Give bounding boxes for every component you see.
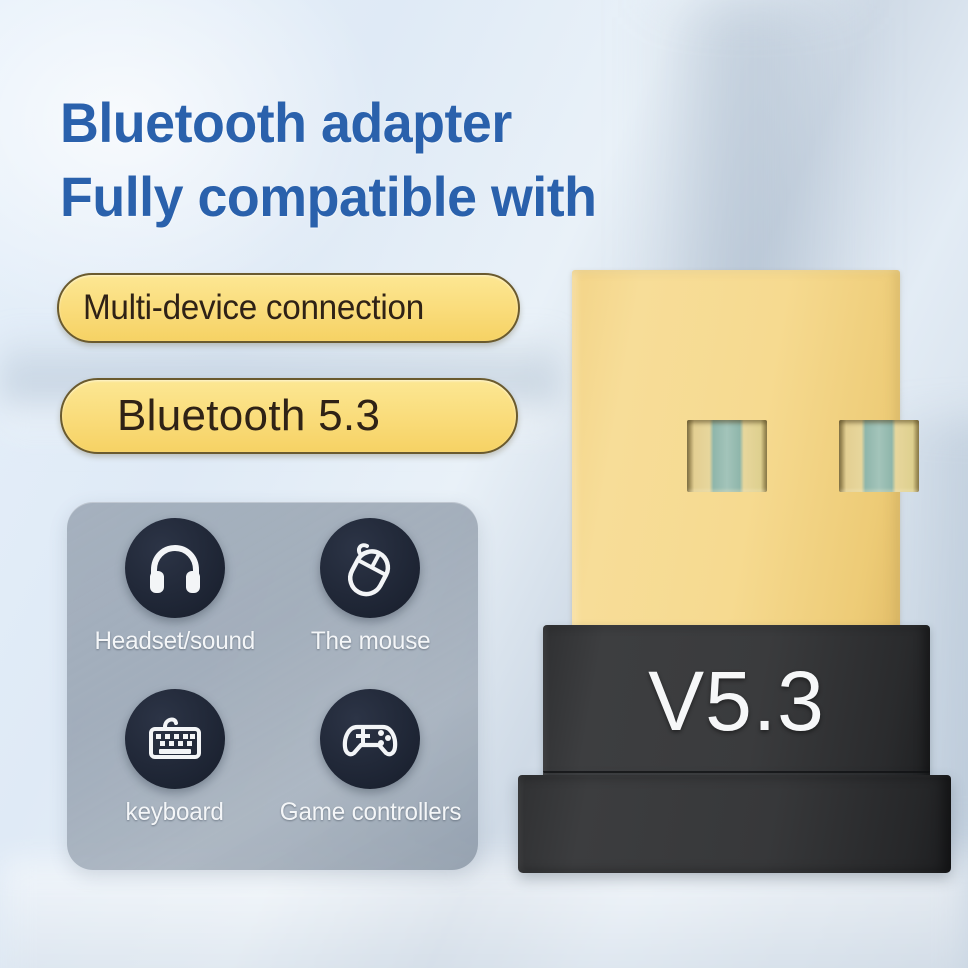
- badge-bluetooth-version: Bluetooth 5.3: [60, 378, 518, 454]
- product-image-usb-bluetooth-dongle: V5.3: [505, 255, 960, 880]
- product-banner: Bluetooth adapter Fully compatible with …: [0, 0, 968, 968]
- badge-label: Multi-device connection: [83, 288, 424, 328]
- feature-mouse: The mouse: [273, 518, 469, 687]
- feature-gamepad: Game controllers: [273, 687, 469, 856]
- badge-label: Bluetooth 5.3: [117, 391, 380, 441]
- dongle-body: V5.3: [543, 625, 930, 787]
- feature-label: Headset/sound: [94, 627, 255, 656]
- headphones-icon: [125, 518, 225, 618]
- feature-label: keyboard: [126, 798, 224, 827]
- feature-headset: Headset/sound: [77, 518, 273, 687]
- product-version-text: V5.3: [543, 659, 930, 743]
- gamepad-icon: [320, 689, 420, 789]
- feature-keyboard: keyboard: [77, 687, 273, 856]
- usb-contact-slot-right: [839, 420, 919, 492]
- headline: Bluetooth adapter Fully compatible with: [60, 86, 597, 234]
- feature-grid: Headset/sound The mouse: [67, 502, 478, 870]
- feature-label: Game controllers: [279, 798, 461, 827]
- keyboard-icon: [125, 689, 225, 789]
- usb-contact-slot-left: [687, 420, 767, 492]
- compatibility-panel: Headset/sound The mouse: [67, 502, 478, 870]
- feature-label: The mouse: [310, 627, 430, 656]
- badge-multi-device-connection: Multi-device connection: [57, 273, 520, 343]
- usb-connector: [572, 270, 900, 645]
- mouse-icon: [320, 518, 420, 618]
- dongle-base-flange: [518, 775, 951, 873]
- headline-line-2: Fully compatible with: [60, 160, 597, 234]
- headline-line-1: Bluetooth adapter: [60, 86, 597, 160]
